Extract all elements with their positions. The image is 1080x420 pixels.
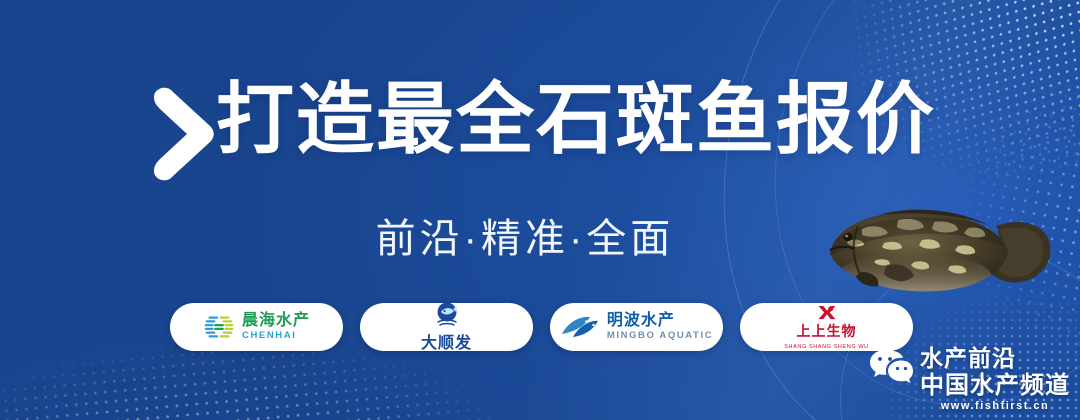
dashunfa-fish-circle-logo bbox=[432, 303, 462, 328]
shangshang-red-logo bbox=[814, 305, 840, 320]
channel-watermark: 水产前沿 中国水产频道 www.fishfirst.cn bbox=[869, 347, 1070, 412]
sponsor-name-cn: 明波水产 bbox=[607, 313, 713, 329]
page-title: 打造最全石斑鱼报价 bbox=[216, 80, 936, 160]
sponsor-logo-row: 晨海水产 CHENHAI 大顺发 bbox=[170, 303, 913, 351]
sponsor-name-en: MINGBO AQUATIC bbox=[607, 331, 713, 341]
sponsor-pill-shangshang[interactable]: 上上生物 SHANG SHANG SHENG WU bbox=[740, 303, 913, 351]
sponsor-pill-mingbo[interactable]: 明波水产 MINGBO AQUATIC bbox=[550, 303, 723, 351]
promo-banner: 打造最全石斑鱼报价 前沿·精准·全面 bbox=[0, 0, 1080, 420]
watermark-line1: 水产前沿 bbox=[920, 347, 1016, 370]
wechat-icon bbox=[869, 347, 913, 392]
sponsor-name-en: CHENHAI bbox=[242, 331, 310, 341]
sponsor-name-block: 明波水产 MINGBO AQUATIC bbox=[607, 313, 713, 341]
sponsor-name-cn: 大顺发 bbox=[421, 329, 472, 352]
sponsor-name-cn: 上上生物 bbox=[797, 321, 857, 341]
mingbo-fish-logo bbox=[560, 314, 600, 340]
sponsor-name-cn: 晨海水产 bbox=[242, 313, 310, 329]
sponsor-pill-chenhai[interactable]: 晨海水产 CHENHAI bbox=[170, 303, 343, 351]
chenhai-circle-logo bbox=[203, 311, 235, 343]
sponsor-name-en: SHANG SHANG SHENG WU bbox=[784, 344, 868, 350]
chevron-right-icon bbox=[140, 86, 218, 182]
watermark-line2: 中国水产频道 bbox=[920, 374, 1070, 398]
sponsor-name-block: 晨海水产 CHENHAI bbox=[242, 313, 310, 341]
watermark-text: 水产前沿 中国水产频道 www.fishfirst.cn bbox=[920, 347, 1070, 412]
sponsor-pill-dashunfa[interactable]: 大顺发 bbox=[360, 303, 533, 351]
grouper-fish-image bbox=[818, 196, 1058, 306]
watermark-url: www.fishfirst.cn bbox=[941, 401, 1050, 412]
